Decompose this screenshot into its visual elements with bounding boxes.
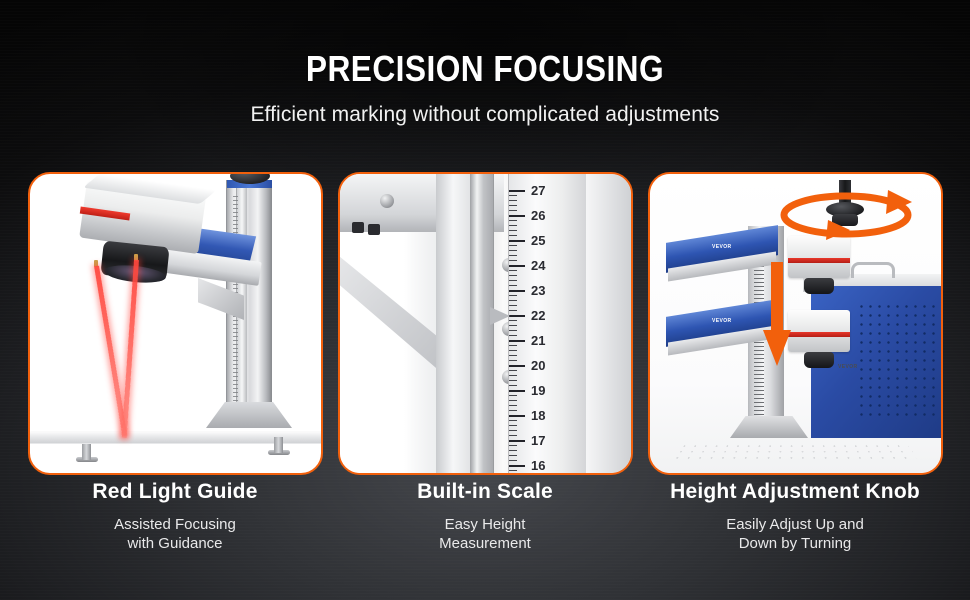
scale-tick-minor	[509, 300, 517, 301]
panel-built-in-scale: 272625242322212019181716	[338, 172, 633, 475]
scale-tick-minor	[509, 470, 517, 471]
scale-tick-major	[509, 465, 525, 467]
scale-tick-minor	[509, 430, 517, 431]
scale-tick-major	[509, 215, 525, 217]
scale-tick-minor	[509, 235, 517, 236]
carriage-screw-top	[380, 194, 394, 208]
caption-subtitle-line2: with Guidance	[127, 535, 222, 552]
scale-label: 16	[531, 458, 545, 473]
caption-built-in-scale: Built-in Scale Easy Height Measurement	[330, 480, 640, 553]
scale-tick-minor	[509, 445, 517, 446]
laser-machine-illustration	[30, 174, 321, 473]
caption-title: Built-in Scale	[330, 480, 640, 504]
brand-logo-upper: VEVOR	[712, 244, 732, 250]
scale-tick-minor	[509, 350, 517, 351]
scale-tick-minor	[509, 280, 517, 281]
scale-tick-minor	[509, 450, 517, 451]
scale-tick-minor	[509, 205, 517, 206]
scale-tick-minor	[509, 305, 517, 306]
brand-logo-lower: VEVOR	[712, 318, 732, 324]
caption-subtitle-line1: Easy Height	[445, 516, 526, 533]
scale-tick-major	[509, 190, 525, 192]
scale-tick-minor	[509, 225, 517, 226]
scale-tick-minor	[509, 455, 517, 456]
table-foot-right	[274, 437, 283, 453]
scale-tick-minor	[509, 295, 517, 296]
scale-tick-major	[509, 265, 525, 267]
feature-panels: 272625242322212019181716 VEVOR	[0, 172, 970, 478]
scale-tick-minor	[509, 360, 517, 361]
caption-title: Red Light Guide	[20, 480, 330, 504]
scale-tick-major	[509, 290, 525, 292]
scale-tick-minor	[509, 460, 517, 461]
panel-red-light-guide	[28, 172, 323, 475]
caption-subtitle-line2: Down by Turning	[739, 535, 852, 552]
scale-tick-minor	[509, 335, 517, 336]
scale-tick-major	[509, 390, 525, 392]
scale-label: 27	[531, 183, 545, 198]
column-base	[730, 416, 808, 438]
down-arrow-icon	[762, 262, 792, 372]
cable-clip-a	[352, 222, 364, 233]
scale-tick-major	[509, 415, 525, 417]
slider-post	[436, 174, 494, 475]
page-subtitle: Efficient marking without complicated ad…	[0, 103, 970, 127]
scale-label: 23	[531, 283, 545, 298]
scale-tick-major	[509, 340, 525, 342]
scale-label: 22	[531, 308, 545, 323]
scale-tick-minor	[509, 425, 517, 426]
scale-tick-minor	[509, 370, 517, 371]
scale-tick-minor	[509, 270, 517, 271]
support-bracket	[338, 252, 450, 380]
base-plate	[671, 443, 917, 459]
scale-closeup-illustration: 272625242322212019181716	[340, 174, 631, 473]
scale-label: 25	[531, 233, 545, 248]
scale-tick-minor	[509, 195, 517, 196]
scale-tick-minor	[509, 275, 517, 276]
galvo-stripe-upper	[788, 258, 850, 263]
rotation-arrow-icon	[770, 186, 922, 244]
scale-tick-minor	[509, 325, 517, 326]
scale-tick-minor	[509, 285, 517, 286]
scale-tick-minor	[509, 420, 517, 421]
cabinet-vent-holes	[857, 302, 935, 420]
galvo-stripe-lower	[788, 332, 850, 337]
scale-tick-major	[509, 365, 525, 367]
scale-pointer	[490, 307, 516, 325]
caption-subtitle: Assisted Focusing with Guidance	[20, 515, 330, 553]
scale-tick-minor	[509, 375, 517, 376]
scale-tick-minor	[509, 200, 517, 201]
brand-logo-head: VEVOR	[838, 364, 858, 370]
scale-tick-minor	[509, 345, 517, 346]
scale-label: 17	[531, 433, 545, 448]
scale-tick-minor	[509, 210, 517, 211]
cable-clip-b	[368, 224, 380, 235]
scale-label: 18	[531, 408, 545, 423]
column-base	[206, 402, 292, 428]
caption-height-adjustment-knob: Height Adjustment Knob Easily Adjust Up …	[640, 480, 950, 553]
scale-tick-major	[509, 240, 525, 242]
table-foot-left	[82, 444, 91, 460]
caption-subtitle: Easy Height Measurement	[330, 515, 640, 553]
caption-title: Height Adjustment Knob	[640, 480, 950, 504]
scale-tick-minor	[509, 410, 517, 411]
scale-tick-minor	[509, 385, 517, 386]
scale-tick-minor	[509, 245, 517, 246]
scale-tick-minor	[509, 355, 517, 356]
scale-tick-minor	[509, 220, 517, 221]
scale-tick-major	[509, 440, 525, 442]
panel-height-adjustment-knob: VEVOR VEVOR VEVOR	[648, 172, 943, 475]
caption-red-light-guide: Red Light Guide Assisted Focusing with G…	[20, 480, 330, 553]
scale-tick-minor	[509, 435, 517, 436]
cabinet-handle	[851, 262, 895, 278]
scale-tick-minor	[509, 395, 517, 396]
galvo-head-lower	[788, 310, 850, 352]
scale-tick-minor	[509, 230, 517, 231]
measuring-scale: 272625242322212019181716	[508, 174, 586, 475]
guide-rail	[470, 174, 484, 475]
caption-subtitle: Easily Adjust Up and Down by Turning	[640, 515, 950, 553]
scale-tick-minor	[509, 405, 517, 406]
scale-tick-minor	[509, 250, 517, 251]
caption-subtitle-line1: Easily Adjust Up and	[726, 516, 864, 533]
scale-label: 26	[531, 208, 545, 223]
scale-label: 21	[531, 333, 545, 348]
scale-tick-minor	[509, 380, 517, 381]
page-title: PRECISION FOCUSING	[58, 48, 912, 90]
lens-lower	[804, 352, 834, 368]
scale-tick-minor	[509, 260, 517, 261]
header: PRECISION FOCUSING Efficient marking wit…	[0, 0, 970, 127]
scale-tick-minor	[509, 255, 517, 256]
caption-subtitle-line1: Assisted Focusing	[114, 516, 236, 533]
scale-tick-minor	[509, 400, 517, 401]
caption-subtitle-line2: Measurement	[439, 535, 531, 552]
red-guide-beam-left	[94, 266, 127, 436]
lens-upper	[804, 278, 834, 294]
red-guide-beam-right	[122, 260, 139, 438]
height-adjust-illustration: VEVOR VEVOR VEVOR	[650, 174, 941, 473]
scale-label: 19	[531, 383, 545, 398]
promo-banner: PRECISION FOCUSING Efficient marking wit…	[0, 0, 970, 600]
scale-label: 20	[531, 358, 545, 373]
scale-tick-minor	[509, 330, 517, 331]
scale-label: 24	[531, 258, 545, 273]
